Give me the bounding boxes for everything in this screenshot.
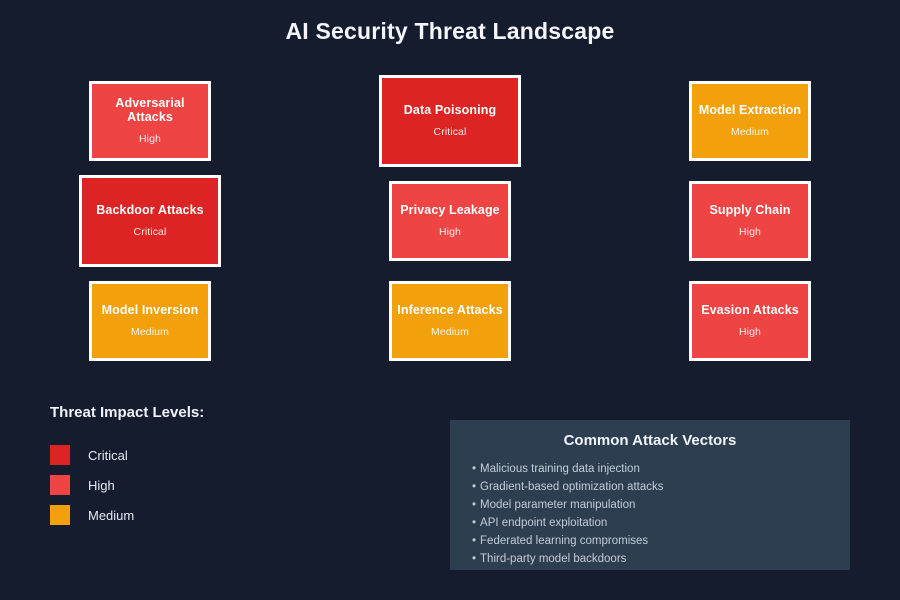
legend-item: High — [50, 470, 350, 500]
threat-card-level: Critical — [134, 226, 167, 238]
attack-vector-text: Third-party model backdoors — [480, 553, 626, 565]
bullet-icon: • — [472, 517, 476, 529]
threat-cell: Supply ChainHigh — [600, 173, 900, 269]
attack-vector-text: Gradient-based optimization attacks — [480, 481, 663, 493]
legend-label: High — [88, 478, 115, 493]
bullet-icon: • — [472, 553, 476, 565]
attack-vector-text: Federated learning compromises — [480, 535, 648, 547]
legend-swatch-medium — [50, 505, 70, 525]
threat-card-name: Privacy Leakage — [400, 204, 500, 218]
legend-label: Critical — [88, 448, 128, 463]
legend-title: Threat Impact Levels: — [50, 404, 350, 421]
threat-card[interactable]: Inference AttacksMedium — [389, 281, 511, 361]
threat-card[interactable]: Data PoisoningCritical — [379, 75, 521, 167]
attack-vector-item: •Malicious training data injection — [472, 460, 828, 478]
bullet-icon: • — [472, 499, 476, 511]
threat-card-level: High — [139, 133, 161, 145]
attack-vector-item: •Gradient-based optimization attacks — [472, 478, 828, 496]
threat-card-name: Backdoor Attacks — [96, 204, 203, 218]
threat-card-name: Model Inversion — [102, 304, 199, 318]
threat-cell: Data PoisoningCritical — [300, 73, 600, 169]
legend-item: Critical — [50, 440, 350, 470]
threat-card-level: Medium — [431, 326, 469, 338]
threat-card[interactable]: Adversarial AttacksHigh — [89, 81, 211, 161]
threat-card[interactable]: Backdoor AttacksCritical — [79, 175, 221, 267]
attack-vector-text: Malicious training data injection — [480, 463, 640, 475]
threat-card-level: High — [739, 326, 761, 338]
threat-card[interactable]: Privacy LeakageHigh — [389, 181, 511, 261]
attack-vector-item: •Third-party model backdoors — [472, 550, 828, 568]
threat-card-name: Evasion Attacks — [701, 304, 799, 318]
threat-cell: Backdoor AttacksCritical — [0, 173, 300, 269]
threat-card-level: High — [439, 226, 461, 238]
legend-swatch-critical — [50, 445, 70, 465]
threat-cell: Model ExtractionMedium — [600, 73, 900, 169]
threat-card[interactable]: Model ExtractionMedium — [689, 81, 811, 161]
threat-cell: Evasion AttacksHigh — [600, 273, 900, 369]
threat-row: Adversarial AttacksHighData PoisoningCri… — [0, 73, 900, 169]
threat-card[interactable]: Evasion AttacksHigh — [689, 281, 811, 361]
legend-swatch-high — [50, 475, 70, 495]
attack-vector-item: •Model parameter manipulation — [472, 496, 828, 514]
attack-vectors-list: •Malicious training data injection•Gradi… — [472, 460, 828, 568]
threat-cell: Inference AttacksMedium — [300, 273, 600, 369]
threat-row: Backdoor AttacksCriticalPrivacy LeakageH… — [0, 173, 900, 269]
legend: Threat Impact Levels: CriticalHighMedium — [50, 404, 350, 530]
threat-cell: Adversarial AttacksHigh — [0, 73, 300, 169]
legend-label: Medium — [88, 508, 134, 523]
attack-vectors-title: Common Attack Vectors — [472, 432, 828, 449]
attack-vector-text: API endpoint exploitation — [480, 517, 607, 529]
threat-card-level: Critical — [434, 126, 467, 138]
threat-card-level: Medium — [731, 126, 769, 138]
threat-row: Model InversionMediumInference AttacksMe… — [0, 273, 900, 369]
threat-card[interactable]: Supply ChainHigh — [689, 181, 811, 261]
threat-card[interactable]: Model InversionMedium — [89, 281, 211, 361]
threat-card-name: Data Poisoning — [404, 104, 496, 118]
legend-item: Medium — [50, 500, 350, 530]
page-title: AI Security Threat Landscape — [0, 18, 900, 45]
attack-vector-item: •API endpoint exploitation — [472, 514, 828, 532]
threat-card-name: Adversarial Attacks — [92, 97, 208, 125]
bullet-icon: • — [472, 481, 476, 493]
bullet-icon: • — [472, 535, 476, 547]
bullet-icon: • — [472, 463, 476, 475]
attack-vector-text: Model parameter manipulation — [480, 499, 635, 511]
attack-vector-item: •Federated learning compromises — [472, 532, 828, 550]
threat-card-name: Supply Chain — [709, 204, 790, 218]
threat-card-name: Inference Attacks — [397, 304, 502, 318]
threat-card-name: Model Extraction — [699, 104, 801, 118]
threat-grid: Adversarial AttacksHighData PoisoningCri… — [0, 73, 900, 363]
threat-card-level: High — [739, 226, 761, 238]
attack-vectors-panel: Common Attack Vectors •Malicious trainin… — [450, 420, 850, 570]
threat-cell: Privacy LeakageHigh — [300, 173, 600, 269]
legend-items: CriticalHighMedium — [50, 440, 350, 530]
threat-cell: Model InversionMedium — [0, 273, 300, 369]
threat-card-level: Medium — [131, 326, 169, 338]
